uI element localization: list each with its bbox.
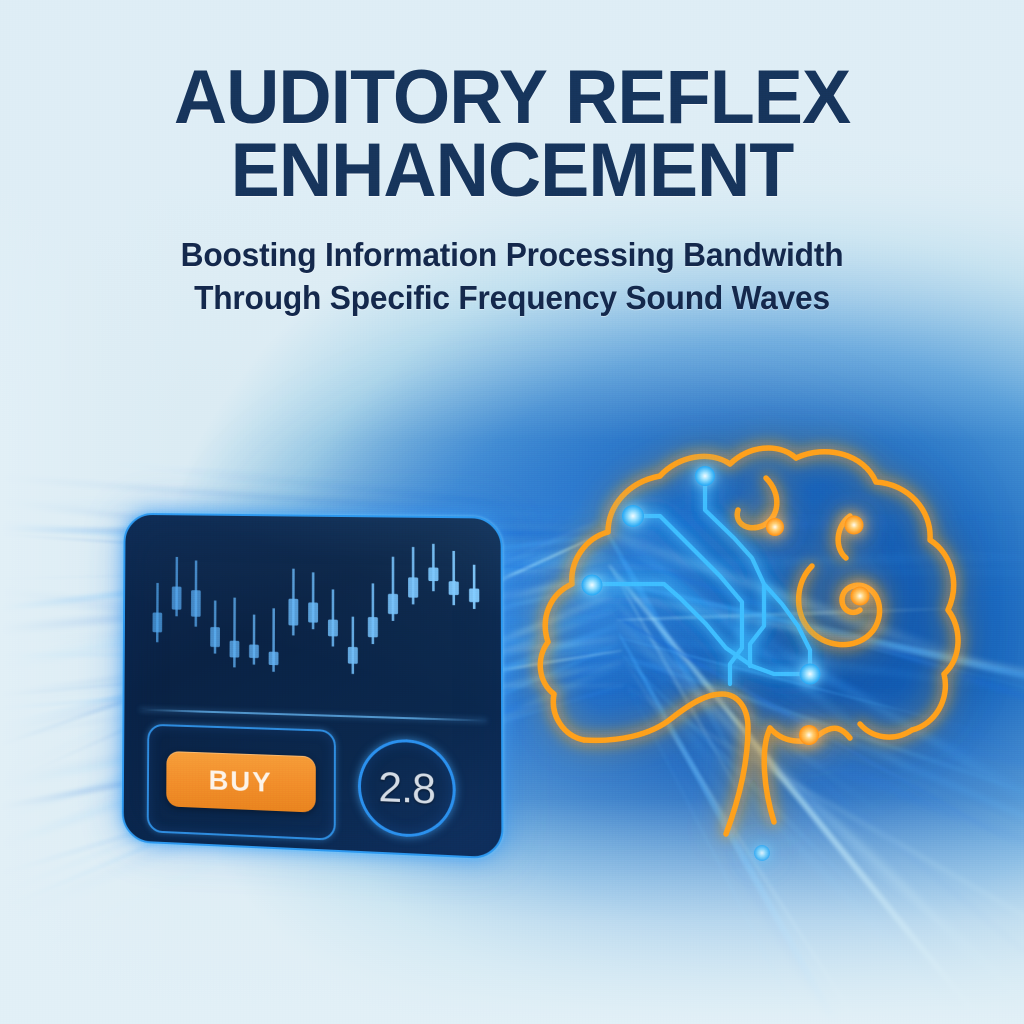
page-title: AUDITORY REFLEX ENHANCEMENT xyxy=(15,62,1008,208)
brain-cyan-nodes xyxy=(582,466,821,861)
subtitle-line-1: Boosting Information Processing Bandwidt… xyxy=(181,236,844,273)
brain-orange-nodes xyxy=(766,516,870,746)
trading-panel[interactable]: BUY 2.8 xyxy=(122,513,504,860)
heading-block: AUDITORY REFLEX ENHANCEMENT Boosting Inf… xyxy=(0,0,1024,320)
poster-canvas: AUDITORY REFLEX ENHANCEMENT Boosting Inf… xyxy=(0,0,1024,1024)
page-subtitle: Boosting Information Processing Bandwidt… xyxy=(20,234,1003,320)
buy-button-frame: BUY xyxy=(147,724,336,841)
brain-outline-path xyxy=(540,448,958,834)
score-badge[interactable]: 2.8 xyxy=(358,738,456,839)
panel-controls: BUY 2.8 xyxy=(124,722,502,849)
buy-button[interactable]: BUY xyxy=(166,751,316,813)
candlestick-svg xyxy=(142,529,491,714)
circuit-brain-graphic xyxy=(520,398,990,898)
candlestick-chart xyxy=(142,529,491,714)
subtitle-line-2: Through Specific Frequency Sound Waves xyxy=(194,279,830,316)
score-badge-value: 2.8 xyxy=(378,763,434,814)
